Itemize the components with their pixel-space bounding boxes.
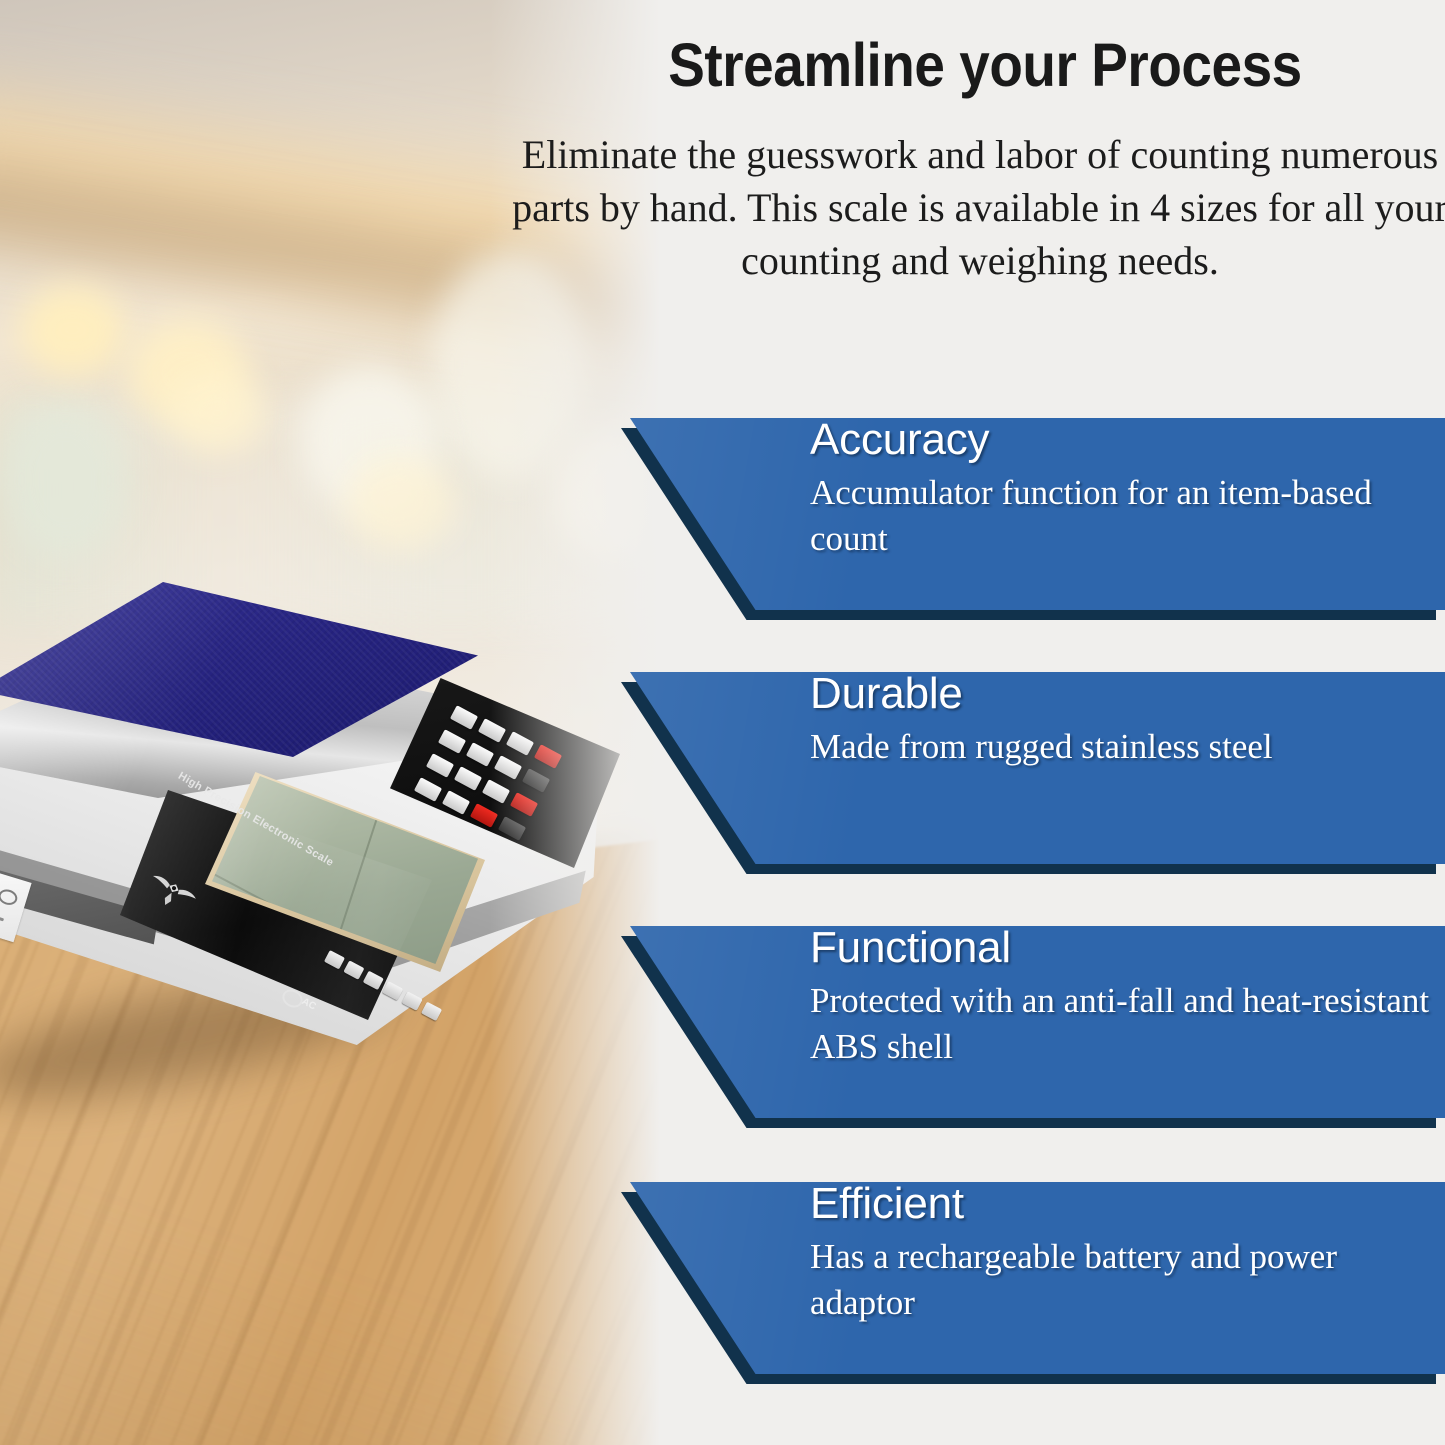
keypad-key	[442, 790, 470, 815]
keypad-key	[450, 705, 478, 730]
page-subcopy: Eliminate the guesswork and labor of cou…	[480, 128, 1445, 288]
marketing-infographic: High Precision Electronic Scale AC	[0, 0, 1445, 1445]
feature-title: Durable	[810, 672, 1445, 716]
feature-banner-efficient: Efficient Has a rechargeable battery and…	[630, 1182, 1445, 1374]
label-line	[0, 906, 4, 922]
certification-mark-icon	[0, 887, 19, 907]
page-title: Streamline your Process	[603, 30, 1368, 100]
bokeh-light	[170, 372, 265, 454]
feature-banner-accuracy: Accuracy Accumulator function for an ite…	[630, 418, 1445, 610]
keypad-key	[454, 766, 482, 791]
feature-body: Made from rugged stainless steel	[810, 724, 1445, 770]
feature-banner-functional: Functional Protected with an anti-fall a…	[630, 926, 1445, 1118]
feature-banner-durable: Durable Made from rugged stainless steel	[630, 672, 1445, 864]
feature-body: Has a rechargeable battery and power ada…	[810, 1234, 1445, 1325]
feature-body: Accumulator function for an item-based c…	[810, 470, 1445, 561]
keypad-key	[426, 753, 454, 778]
feature-body: Protected with an anti-fall and heat-res…	[810, 978, 1445, 1069]
keypad-key	[414, 777, 442, 802]
bokeh-light	[20, 285, 125, 375]
keypad-key	[438, 729, 466, 754]
feature-title: Functional	[810, 926, 1445, 970]
feature-title: Efficient	[810, 1182, 1445, 1226]
feature-title: Accuracy	[810, 418, 1445, 462]
